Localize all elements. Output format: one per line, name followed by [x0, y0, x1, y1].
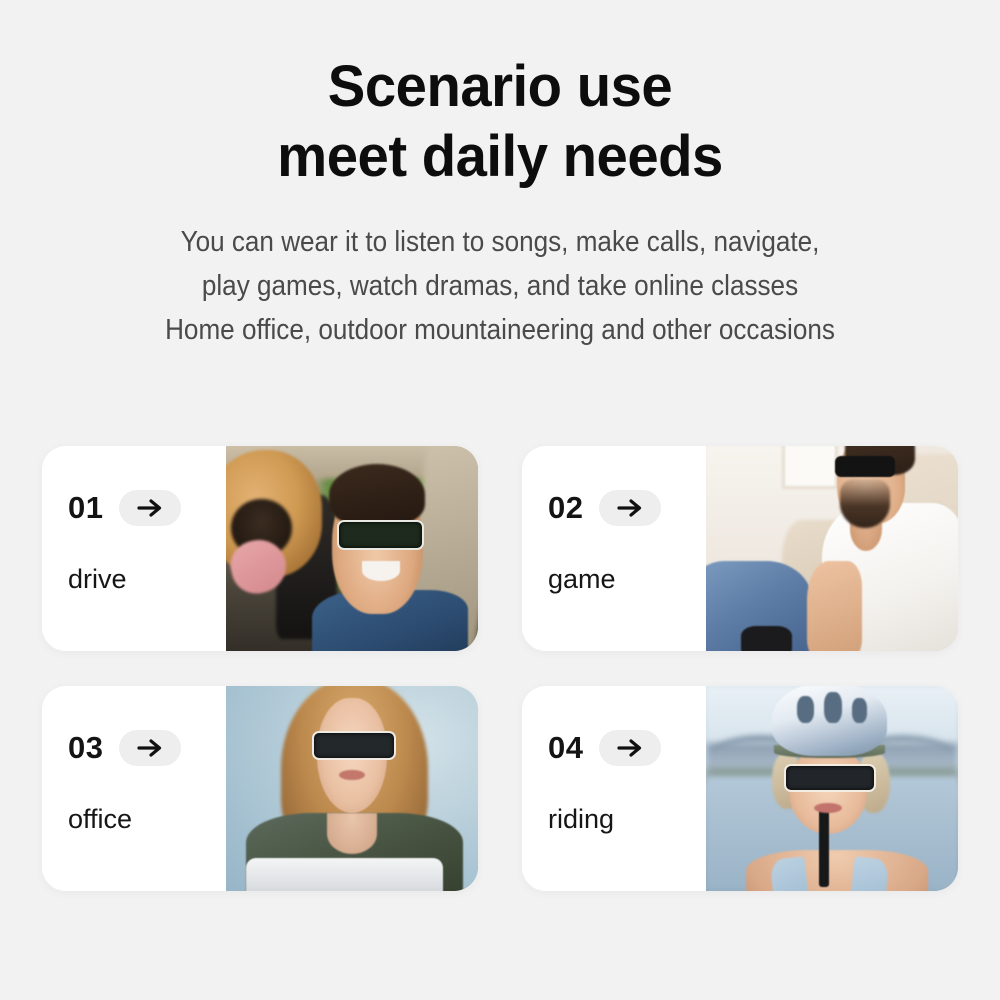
- page-title: Scenario use meet daily needs: [15, 0, 985, 192]
- card-number-row: 01: [68, 490, 181, 526]
- card-photo-drive: [226, 446, 478, 651]
- card-label: office: [68, 804, 132, 835]
- arrow-right-icon[interactable]: [599, 490, 661, 526]
- card-label: riding: [548, 804, 614, 835]
- arrow-right-icon[interactable]: [119, 730, 181, 766]
- card-photo-riding: [706, 686, 958, 891]
- arrow-right-icon[interactable]: [599, 730, 661, 766]
- card-number-row: 04: [548, 730, 661, 766]
- card-info: 01 drive: [42, 446, 226, 651]
- card-number: 01: [68, 490, 103, 526]
- card-number: 04: [548, 730, 583, 766]
- scenario-card-game[interactable]: 02 game: [522, 446, 958, 651]
- card-info: 02 game: [522, 446, 706, 651]
- card-photo-game: [706, 446, 958, 651]
- card-number-row: 03: [68, 730, 181, 766]
- card-label: game: [548, 564, 616, 595]
- page-subtitle-line-1: You can wear it to listen to songs, make…: [50, 220, 950, 264]
- page-subtitle: You can wear it to listen to songs, make…: [50, 192, 950, 352]
- card-info: 03 office: [42, 686, 226, 891]
- scenario-card-grid: 01 drive 02: [42, 446, 958, 891]
- page-title-line-2: meet daily needs: [15, 122, 985, 192]
- arrow-right-icon[interactable]: [119, 490, 181, 526]
- card-number-row: 02: [548, 490, 661, 526]
- page-header: Scenario use meet daily needs You can we…: [0, 0, 1000, 352]
- scenario-card-riding[interactable]: 04 riding: [522, 686, 958, 891]
- card-info: 04 riding: [522, 686, 706, 891]
- scenario-card-drive[interactable]: 01 drive: [42, 446, 478, 651]
- page-subtitle-line-3: Home office, outdoor mountaineering and …: [50, 308, 950, 352]
- card-number: 03: [68, 730, 103, 766]
- card-photo-office: [226, 686, 478, 891]
- page-subtitle-line-2: play games, watch dramas, and take onlin…: [50, 264, 950, 308]
- page-title-line-1: Scenario use: [15, 52, 985, 122]
- card-number: 02: [548, 490, 583, 526]
- card-label: drive: [68, 564, 127, 595]
- scenario-card-office[interactable]: 03 office: [42, 686, 478, 891]
